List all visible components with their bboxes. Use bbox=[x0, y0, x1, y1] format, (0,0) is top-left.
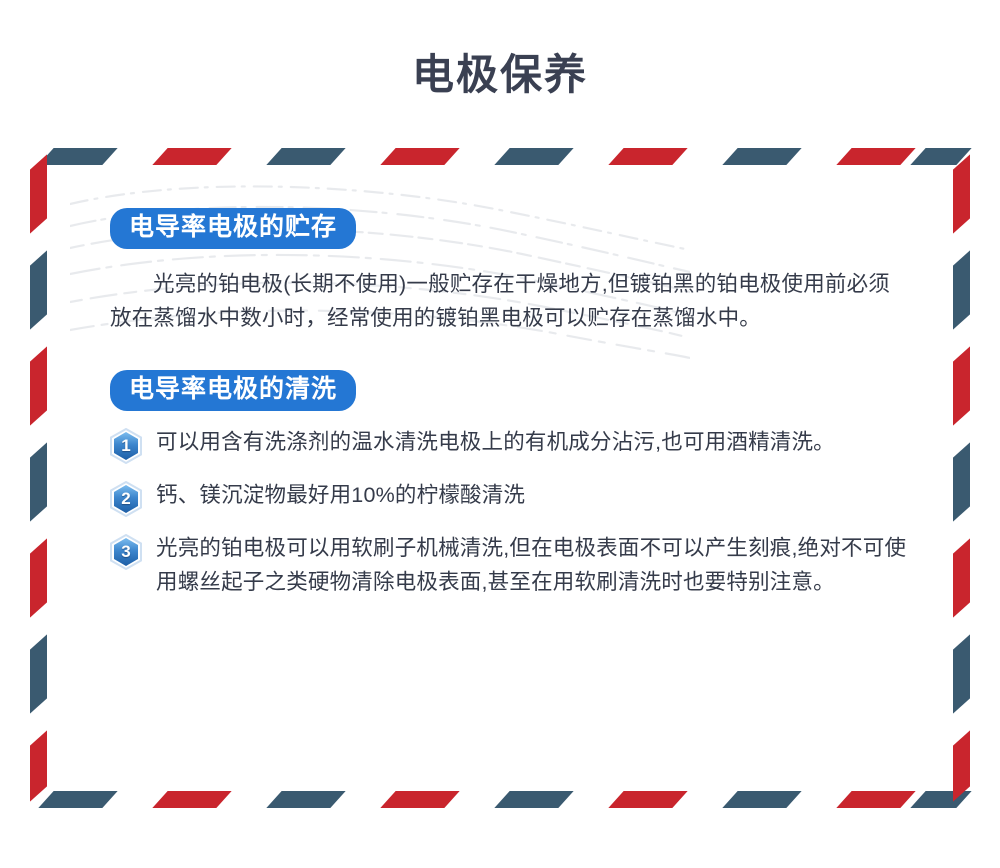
border-stripe-top-7 bbox=[722, 148, 801, 165]
list-item-number: 3 bbox=[110, 534, 142, 570]
border-stripe-left-4 bbox=[30, 442, 47, 521]
border-stripe-top-1 bbox=[38, 148, 117, 165]
border-stripe-right-3 bbox=[953, 346, 970, 425]
border-stripe-right-6 bbox=[953, 634, 970, 713]
border-stripe-bottom-4 bbox=[380, 791, 459, 808]
list-item: 2 钙、镁沉淀物最好用10%的柠檬酸清洗 bbox=[110, 478, 910, 517]
border-stripe-bottom-7 bbox=[722, 791, 801, 808]
border-stripe-bottom-9 bbox=[910, 791, 971, 808]
list-item: 3 光亮的铂电极可以用软刷子机械清洗,但在电极表面不可以产生刻痕,绝对不可使用螺… bbox=[110, 531, 910, 600]
border-stripe-top-3 bbox=[266, 148, 345, 165]
list-item: 1 可以用含有洗涤剂的温水清洗电极上的有机成分沾污,也可用酒精清洗。 bbox=[110, 425, 910, 464]
border-stripe-top-8 bbox=[836, 148, 915, 165]
border-stripe-top-6 bbox=[608, 148, 687, 165]
border-stripe-top-5 bbox=[494, 148, 573, 165]
border-stripe-bottom-2 bbox=[152, 791, 231, 808]
hexagon-number-badge-icon: 1 bbox=[110, 428, 142, 464]
section-heading-storage: 电导率电极的贮存 bbox=[110, 208, 356, 249]
storage-paragraph: 光亮的铂电极(长期不使用)一般贮存在干燥地方,但镀铂黑的铂电极使用前必须放在蒸馏… bbox=[110, 267, 910, 337]
border-stripe-bottom-6 bbox=[608, 791, 687, 808]
border-stripe-left-5 bbox=[30, 538, 47, 617]
section-storage: 电导率电极的贮存 光亮的铂电极(长期不使用)一般贮存在干燥地方,但镀铂黑的铂电极… bbox=[110, 208, 910, 336]
section-heading-cleaning: 电导率电极的清洗 bbox=[110, 370, 356, 411]
content-area: 电导率电极的贮存 光亮的铂电极(长期不使用)一般贮存在干燥地方,但镀铂黑的铂电极… bbox=[110, 208, 910, 599]
border-stripe-right-5 bbox=[953, 538, 970, 617]
border-stripe-bottom-3 bbox=[266, 791, 345, 808]
border-stripe-right-1 bbox=[953, 154, 970, 233]
border-stripe-left-2 bbox=[30, 250, 47, 329]
list-item-number: 2 bbox=[110, 481, 142, 517]
list-item-text: 光亮的铂电极可以用软刷子机械清洗,但在电极表面不可以产生刻痕,绝对不可使用螺丝起… bbox=[156, 531, 910, 600]
border-stripe-left-3 bbox=[30, 346, 47, 425]
airmail-envelope-border: 电导率电极的贮存 光亮的铂电极(长期不使用)一般贮存在干燥地方,但镀铂黑的铂电极… bbox=[30, 148, 970, 808]
border-stripe-top-4 bbox=[380, 148, 459, 165]
border-stripe-bottom-5 bbox=[494, 791, 573, 808]
border-stripe-bottom-1 bbox=[38, 791, 117, 808]
list-item-text: 可以用含有洗涤剂的温水清洗电极上的有机成分沾污,也可用酒精清洗。 bbox=[156, 425, 835, 459]
border-stripe-bottom-8 bbox=[836, 791, 915, 808]
page-title: 电极保养 bbox=[0, 52, 1000, 98]
border-stripe-left-7 bbox=[30, 730, 47, 801]
list-item-text: 钙、镁沉淀物最好用10%的柠檬酸清洗 bbox=[156, 478, 525, 512]
hexagon-number-badge-icon: 2 bbox=[110, 481, 142, 517]
border-stripe-right-4 bbox=[953, 442, 970, 521]
cleaning-steps-list: 1 可以用含有洗涤剂的温水清洗电极上的有机成分沾污,也可用酒精清洗。 bbox=[110, 425, 910, 600]
section-cleaning: 电导率电极的清洗 bbox=[110, 370, 910, 599]
border-stripe-left-6 bbox=[30, 634, 47, 713]
section-spacer bbox=[110, 336, 910, 370]
border-stripe-right-2 bbox=[953, 250, 970, 329]
hexagon-number-badge-icon: 3 bbox=[110, 534, 142, 570]
border-stripe-top-2 bbox=[152, 148, 231, 165]
list-item-number: 1 bbox=[110, 428, 142, 464]
border-stripe-left-1 bbox=[30, 154, 47, 233]
